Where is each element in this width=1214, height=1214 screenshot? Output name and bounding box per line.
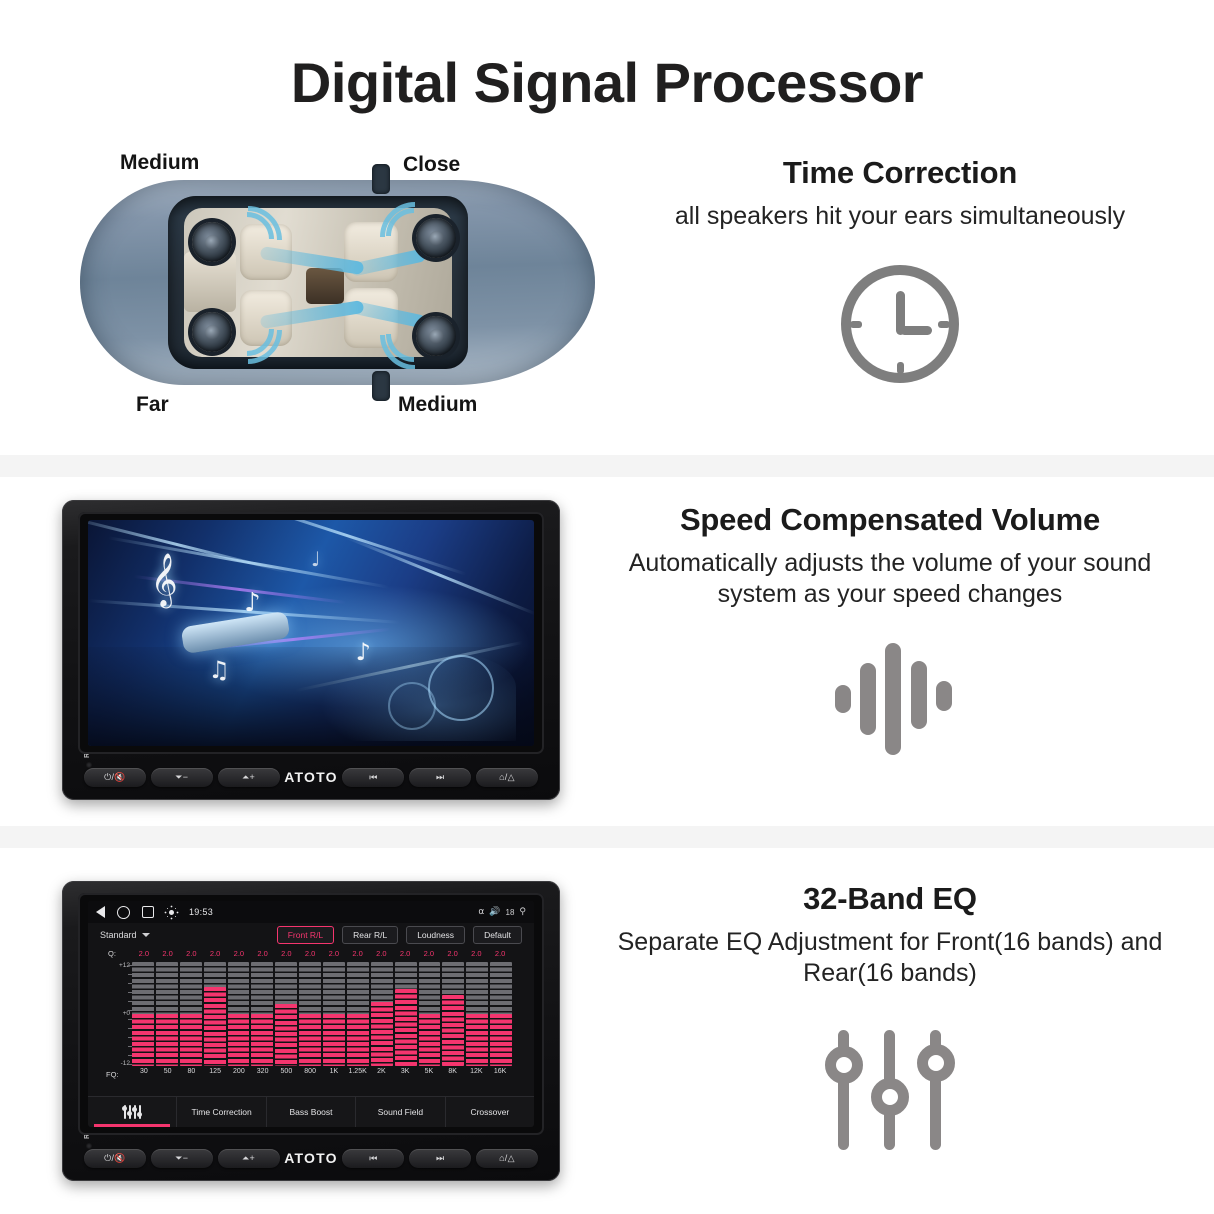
music-note-single: ♪ [356, 638, 371, 666]
volume-up-button-media[interactable]: ⏶+ [218, 768, 280, 787]
waveform-bar-2 [860, 663, 876, 735]
volume-icon: 🔊 [489, 907, 500, 917]
q-value: 2.0 [180, 949, 204, 960]
android-status-bar: 19:53 ⍺ 🔊 18 ⚲ [88, 901, 534, 923]
frequency-labels-row: 3050801252003205008001K1.25K2K3K5K8K12K1… [132, 1068, 512, 1079]
brightness-icon[interactable] [166, 907, 177, 918]
eq-band-slider[interactable] [395, 962, 417, 1066]
preset-dropdown[interactable]: Standard [100, 930, 150, 940]
frequency-label: 80 [180, 1068, 204, 1079]
eq-heading: 32-Band EQ [590, 881, 1190, 917]
volume-down-button-media[interactable]: ⏷− [151, 768, 213, 787]
center-console [306, 268, 344, 304]
frequency-label: 125 [203, 1068, 227, 1079]
frequency-label: 2K [370, 1068, 394, 1079]
tab-bass-boost[interactable]: Bass Boost [267, 1097, 356, 1127]
head-unit-media: MIC RST [62, 500, 560, 800]
q-value: 2.0 [298, 949, 322, 960]
eq-band-slider[interactable] [323, 962, 345, 1066]
eq-band-fill [132, 1014, 154, 1066]
side-mirror-bottom [372, 371, 390, 401]
speaker-rear-left [192, 222, 232, 262]
waveform-bar-1 [835, 685, 851, 713]
speed-volume-subheading: Automatically adjusts the volume of your… [600, 548, 1180, 611]
axis-label-mid: +0 [104, 1010, 130, 1017]
eq-band-fill [275, 1004, 297, 1066]
frequency-label: 3K [393, 1068, 417, 1079]
sliders-icon [830, 1030, 950, 1150]
slider-knob-3[interactable] [917, 1044, 955, 1082]
frequency-label: 8K [441, 1068, 465, 1079]
eq-band-fill [251, 1014, 273, 1066]
tab-equalizer[interactable] [88, 1097, 177, 1127]
section-divider-2 [0, 826, 1214, 848]
q-value: 2.0 [132, 949, 156, 960]
clock-tick-bottom [897, 362, 904, 374]
music-note-beamed: ♫ [208, 656, 230, 684]
eq-band-fill [156, 1014, 178, 1066]
q-value: 2.0 [393, 949, 417, 960]
slider-knob-1[interactable] [825, 1046, 863, 1084]
frequency-label: 200 [227, 1068, 251, 1079]
speed-gauge-1 [428, 655, 494, 721]
eq-band-slider[interactable] [419, 962, 441, 1066]
tab-time-correction[interactable]: Time Correction [177, 1097, 266, 1127]
eq-band-fill [323, 1014, 345, 1066]
frequency-label: 16K [488, 1068, 512, 1079]
eq-band-fill [299, 1014, 321, 1066]
eq-band-slider[interactable] [228, 962, 250, 1066]
car-speaker-diagram: Medium Close Far Medium [58, 135, 618, 435]
waveform-bar-4 [911, 661, 927, 729]
eq-band-slider[interactable] [132, 962, 154, 1066]
clock-tick-right [938, 321, 950, 328]
eq-band-slider[interactable] [299, 962, 321, 1066]
preset-label: Standard [100, 930, 137, 940]
frequency-label: 1K [322, 1068, 346, 1079]
q-value: 2.0 [156, 949, 180, 960]
speaker-front-left [416, 218, 456, 258]
eq-band-fill [419, 1014, 441, 1066]
music-note-small: ♩ [311, 547, 320, 571]
eq-channel-buttons: Front R/L Rear R/L Loudness Default [277, 926, 522, 944]
q-value: 2.0 [465, 949, 489, 960]
volume-level: 18 [506, 908, 515, 917]
tab-sound-field[interactable]: Sound Field [356, 1097, 445, 1127]
eq-subheading: Separate EQ Adjustment for Front(16 band… [590, 927, 1190, 990]
eq-band-slider[interactable] [180, 962, 202, 1066]
head-unit-button-bar-eq: ⏻/🔇 ⏷− ⏶+ ATOTO ⏮ ⏭ ⌂/△ [70, 1141, 552, 1175]
eq-band-slider[interactable] [442, 962, 464, 1066]
brand-logo-eq: ATOTO [284, 1150, 337, 1166]
front-rl-button[interactable]: Front R/L [277, 926, 334, 944]
eq-band-fill [347, 1014, 369, 1066]
eq-band-fill [395, 989, 417, 1066]
eq-tab-bar: Time Correction Bass Boost Sound Field C… [88, 1096, 534, 1127]
music-note-eighth: ♪ [244, 588, 261, 618]
q-value: 2.0 [488, 949, 512, 960]
car-label-front-right: Close [403, 153, 460, 177]
speed-volume-heading: Speed Compensated Volume [600, 502, 1180, 538]
volume-down-button-eq[interactable]: ⏷− [151, 1149, 213, 1168]
frequency-label: 50 [156, 1068, 180, 1079]
music-note-treble: 𝄞 [150, 552, 177, 608]
status-time: 19:53 [189, 907, 213, 917]
speaker-rear-right [192, 312, 232, 352]
clock-hour-hand [900, 326, 932, 335]
car-cabin-cutaway [168, 196, 468, 369]
q-value: 2.0 [370, 949, 394, 960]
power-mute-button-eq[interactable]: ⏻/🔇 [84, 1149, 146, 1168]
eq-band-slider[interactable] [466, 962, 488, 1066]
volume-up-button-eq[interactable]: ⏶+ [218, 1149, 280, 1168]
section-divider-1 [0, 455, 1214, 477]
page-title: Digital Signal Processor [0, 50, 1214, 115]
frequency-label: 800 [298, 1068, 322, 1079]
brand-logo-media: ATOTO [284, 769, 337, 785]
home-mode-button-eq[interactable]: ⌂/△ [476, 1149, 538, 1168]
car-label-rear-left: Medium [120, 151, 199, 175]
chevron-down-icon [142, 933, 150, 937]
frequency-label: 320 [251, 1068, 275, 1079]
car-label-front-left: Medium [398, 393, 477, 417]
axis-label-top: +12 [104, 962, 130, 969]
q-values-row: 2.02.02.02.02.02.02.02.02.02.02.02.02.02… [132, 949, 512, 960]
back-icon[interactable] [96, 906, 105, 918]
eq-graph: Q: 2.02.02.02.02.02.02.02.02.02.02.02.02… [88, 947, 534, 1081]
next-track-button-eq[interactable]: ⏭ [409, 1149, 471, 1168]
default-button[interactable]: Default [473, 926, 522, 944]
slider-knob-2[interactable] [871, 1078, 909, 1116]
media-artwork: 𝄞 ♪ ♫ ♪ ♩ [88, 520, 534, 746]
headset-icon: ⍺ [478, 907, 484, 917]
eq-band-fill [371, 1002, 393, 1066]
tab-crossover[interactable]: Crossover [446, 1097, 534, 1127]
eq-band-slider[interactable] [490, 962, 512, 1066]
home-icon[interactable] [117, 906, 130, 919]
speed-gauge-2 [388, 682, 436, 730]
eq-band-fill [466, 1014, 488, 1066]
speed-volume-copy: Speed Compensated Volume Automatically a… [600, 502, 1180, 611]
q-value: 2.0 [227, 949, 251, 960]
head-unit-button-bar-media: ⏻/🔇 ⏷− ⏶+ ATOTO ⏮ ⏭ ⌂/△ [70, 760, 552, 794]
time-correction-copy: Time Correction all speakers hit your ea… [610, 155, 1190, 232]
q-row-label: Q: [108, 949, 116, 958]
eq-band-slider[interactable] [156, 962, 178, 1066]
recents-icon[interactable] [142, 906, 154, 918]
eq-band-slider[interactable] [204, 962, 226, 1066]
home-mode-button-media[interactable]: ⌂/△ [476, 768, 538, 787]
eq-band-slider[interactable] [371, 962, 393, 1066]
eq-band-slider[interactable] [251, 962, 273, 1066]
q-value: 2.0 [346, 949, 370, 960]
eq-band-fill [490, 1014, 512, 1066]
eq-band-sliders[interactable] [132, 962, 512, 1066]
eq-band-fill [442, 995, 464, 1066]
waveform-icon [835, 640, 953, 758]
eq-toolbar: Standard Front R/L Rear R/L Loudness Def… [88, 923, 534, 947]
eq-band-fill [180, 1014, 202, 1066]
clock-tick-left [850, 321, 862, 328]
eq-band-slider[interactable] [347, 962, 369, 1066]
frequency-label: 5K [417, 1068, 441, 1079]
eq-sliders-icon [124, 1105, 141, 1119]
section-time-correction: Medium Close Far Medium [0, 125, 1214, 455]
side-mirror-top [372, 164, 390, 194]
q-value: 2.0 [322, 949, 346, 960]
axis-label-bottom: -12 [104, 1060, 130, 1067]
section-speed-compensated-volume: MIC RST [0, 482, 1214, 822]
previous-track-button-media[interactable]: ⏮ [342, 768, 404, 787]
section-32-band-eq: MIC RST 19:53 ⍺ � [0, 855, 1214, 1214]
q-value: 2.0 [275, 949, 299, 960]
head-unit-eq: MIC RST 19:53 ⍺ � [62, 881, 560, 1181]
rear-rl-button[interactable]: Rear R/L [342, 926, 398, 944]
car-top-view [80, 180, 595, 385]
eq-copy: 32-Band EQ Separate EQ Adjustment for Fr… [590, 881, 1190, 990]
q-value: 2.0 [251, 949, 275, 960]
infographic-page: Digital Signal Processor Medium Close Fa… [0, 0, 1214, 1214]
fq-row-label: FQ: [106, 1070, 119, 1079]
speaker-front-right [416, 316, 456, 356]
q-value: 2.0 [417, 949, 441, 960]
clock-icon [841, 265, 959, 383]
previous-track-button-eq[interactable]: ⏮ [342, 1149, 404, 1168]
time-correction-heading: Time Correction [610, 155, 1190, 191]
waveform-bar-5 [936, 681, 952, 711]
frequency-label: 30 [132, 1068, 156, 1079]
loudness-button[interactable]: Loudness [406, 926, 465, 944]
q-value: 2.0 [203, 949, 227, 960]
media-screen[interactable]: 𝄞 ♪ ♫ ♪ ♩ [88, 520, 534, 746]
gps-icon: ⚲ [519, 907, 526, 917]
car-label-rear-right: Far [136, 393, 169, 417]
frequency-label: 500 [275, 1068, 299, 1079]
eq-band-slider[interactable] [275, 962, 297, 1066]
eq-screen[interactable]: 19:53 ⍺ 🔊 18 ⚲ Standard [88, 901, 534, 1127]
waveform-bar-3 [885, 643, 901, 755]
next-track-button-media[interactable]: ⏭ [409, 768, 471, 787]
frequency-label: 1.25K [346, 1068, 370, 1079]
power-mute-button-media[interactable]: ⏻/🔇 [84, 768, 146, 787]
q-value: 2.0 [441, 949, 465, 960]
frequency-label: 12K [465, 1068, 489, 1079]
eq-band-fill [204, 987, 226, 1066]
eq-band-fill [228, 1014, 250, 1066]
status-icons: ⍺ 🔊 18 ⚲ [478, 907, 526, 917]
time-correction-subheading: all speakers hit your ears simultaneousl… [610, 201, 1190, 232]
